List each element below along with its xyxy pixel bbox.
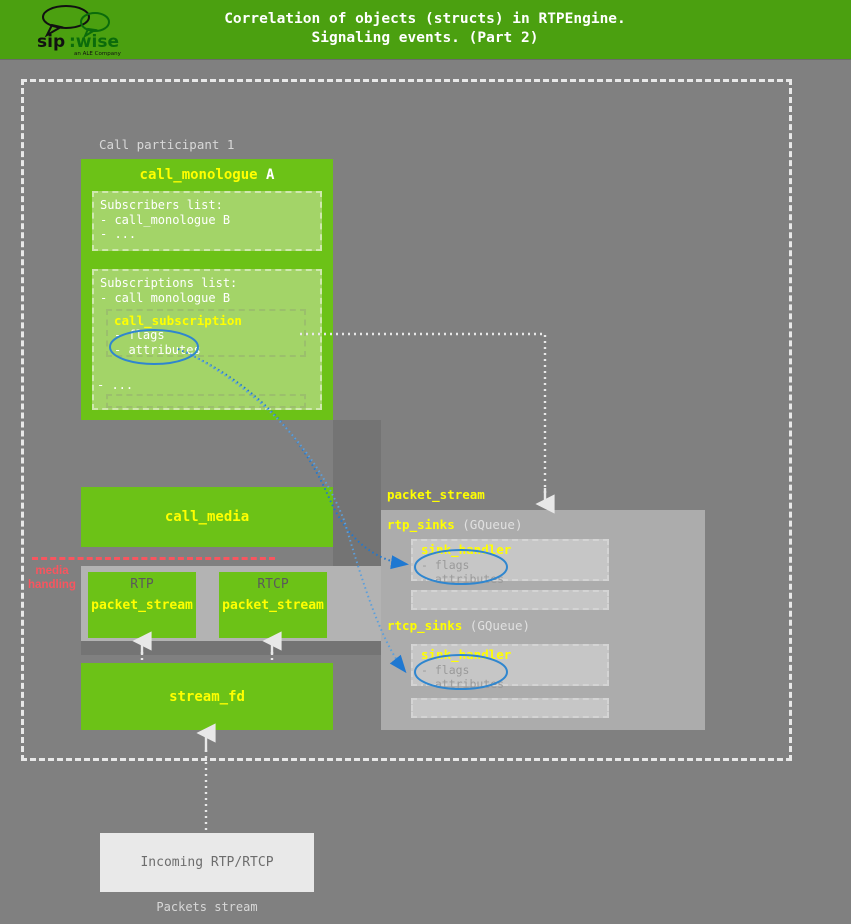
- call-monologue-title-code: call_monologue: [140, 167, 258, 183]
- call-subscription-box-placeholder: [106, 394, 306, 408]
- rtcp-sink-handler-box[interactable]: sink_handler - flags - attributes: [411, 644, 609, 686]
- media-handling-line-2: handling: [22, 578, 82, 592]
- call-monologue-title-suffix: A: [266, 167, 274, 183]
- call-subscription-title: call_subscription: [114, 313, 242, 328]
- call-subscription-fields: - flags - attributes: [114, 328, 201, 357]
- rtp-sink-handler-box[interactable]: sink_handler - flags - attributes: [411, 539, 609, 581]
- subscribers-item-0: - call_monologue B: [100, 213, 314, 228]
- stream-fd-title: stream_fd: [169, 689, 245, 705]
- rtcp-proto-label: RTCP: [219, 577, 327, 592]
- rtp-sink-handler-field-1: - attributes: [421, 572, 599, 587]
- app-header: sip :wise an ALE Company Correlation of …: [0, 0, 851, 60]
- rtcp-packet-stream-box[interactable]: RTCP packet_stream: [219, 572, 327, 638]
- subscribers-item-1: - ...: [100, 227, 314, 242]
- rtp-packet-stream-box[interactable]: RTP packet_stream: [88, 572, 196, 638]
- call-media-box[interactable]: call_media: [81, 487, 333, 547]
- stream-fd-box[interactable]: stream_fd: [81, 663, 333, 730]
- svg-text:sip: sip: [37, 32, 65, 52]
- svg-text::wise: :wise: [69, 32, 119, 52]
- rtcp-sink-handler-field-0: - flags: [421, 663, 599, 678]
- page-title: Correlation of objects (structs) in RTPE…: [155, 10, 695, 48]
- rtcp-sink-handler-title: sink_handler: [421, 648, 599, 663]
- incoming-rtp-rtcp-label: Incoming RTP/RTCP: [140, 855, 273, 870]
- subscriptions-item-1: - ...: [97, 378, 133, 392]
- rtp-sink-handler-field-0: - flags: [421, 558, 599, 573]
- title-line-1: Correlation of objects (structs) in RTPE…: [155, 10, 695, 29]
- svg-text:an ALE Company: an ALE Company: [74, 51, 122, 57]
- rtcp-sinks-name: rtcp_sinks: [387, 618, 462, 633]
- call-monologue-title: call_monologue A: [81, 167, 333, 183]
- title-line-2: Signaling events. (Part 2): [155, 29, 695, 48]
- media-handling-line-1: media: [22, 564, 82, 578]
- call-participant-label: Call participant 1: [99, 137, 234, 152]
- rtp-sink-handler-box-placeholder: [411, 590, 609, 610]
- media-handling-divider: [32, 557, 275, 560]
- rtcp-sink-handler-field-1: - attributes: [421, 677, 599, 692]
- rtcp-sinks-label: rtcp_sinks (GQueue): [387, 618, 530, 633]
- rtp-sinks-name: rtp_sinks: [387, 517, 455, 532]
- media-handling-label: media handling: [22, 564, 82, 592]
- subscriptions-item-0: - call monologue B: [100, 291, 314, 306]
- subscribers-list-panel: Subscribers list: - call_monologue B - .…: [92, 191, 322, 251]
- call-subscription-field-1: - attributes: [114, 343, 201, 358]
- packets-stream-label: Packets stream: [100, 900, 314, 914]
- rtcp-sinks-type: (GQueue): [470, 618, 530, 633]
- call-media-title: call_media: [165, 509, 249, 525]
- rtp-sinks-type: (GQueue): [462, 517, 522, 532]
- call-subscription-field-0: - flags: [114, 328, 201, 343]
- rtp-proto-label: RTP: [88, 577, 196, 592]
- rtp-struct-label: packet_stream: [88, 598, 196, 613]
- subscriptions-heading: Subscriptions list:: [100, 276, 314, 291]
- packet-stream-title: packet_stream: [387, 487, 485, 502]
- rtp-sink-handler-title: sink_handler: [421, 543, 599, 558]
- rtcp-struct-label: packet_stream: [219, 598, 327, 613]
- incoming-rtp-rtcp-box[interactable]: Incoming RTP/RTCP: [100, 833, 314, 892]
- rtcp-sink-handler-box-placeholder: [411, 698, 609, 718]
- media-backdrop-upper: [333, 420, 381, 566]
- media-backdrop-lower: [81, 641, 381, 655]
- rtp-sinks-label: rtp_sinks (GQueue): [387, 517, 522, 532]
- sipwise-logo: sip :wise an ALE Company: [30, 3, 130, 57]
- subscribers-heading: Subscribers list:: [100, 198, 314, 213]
